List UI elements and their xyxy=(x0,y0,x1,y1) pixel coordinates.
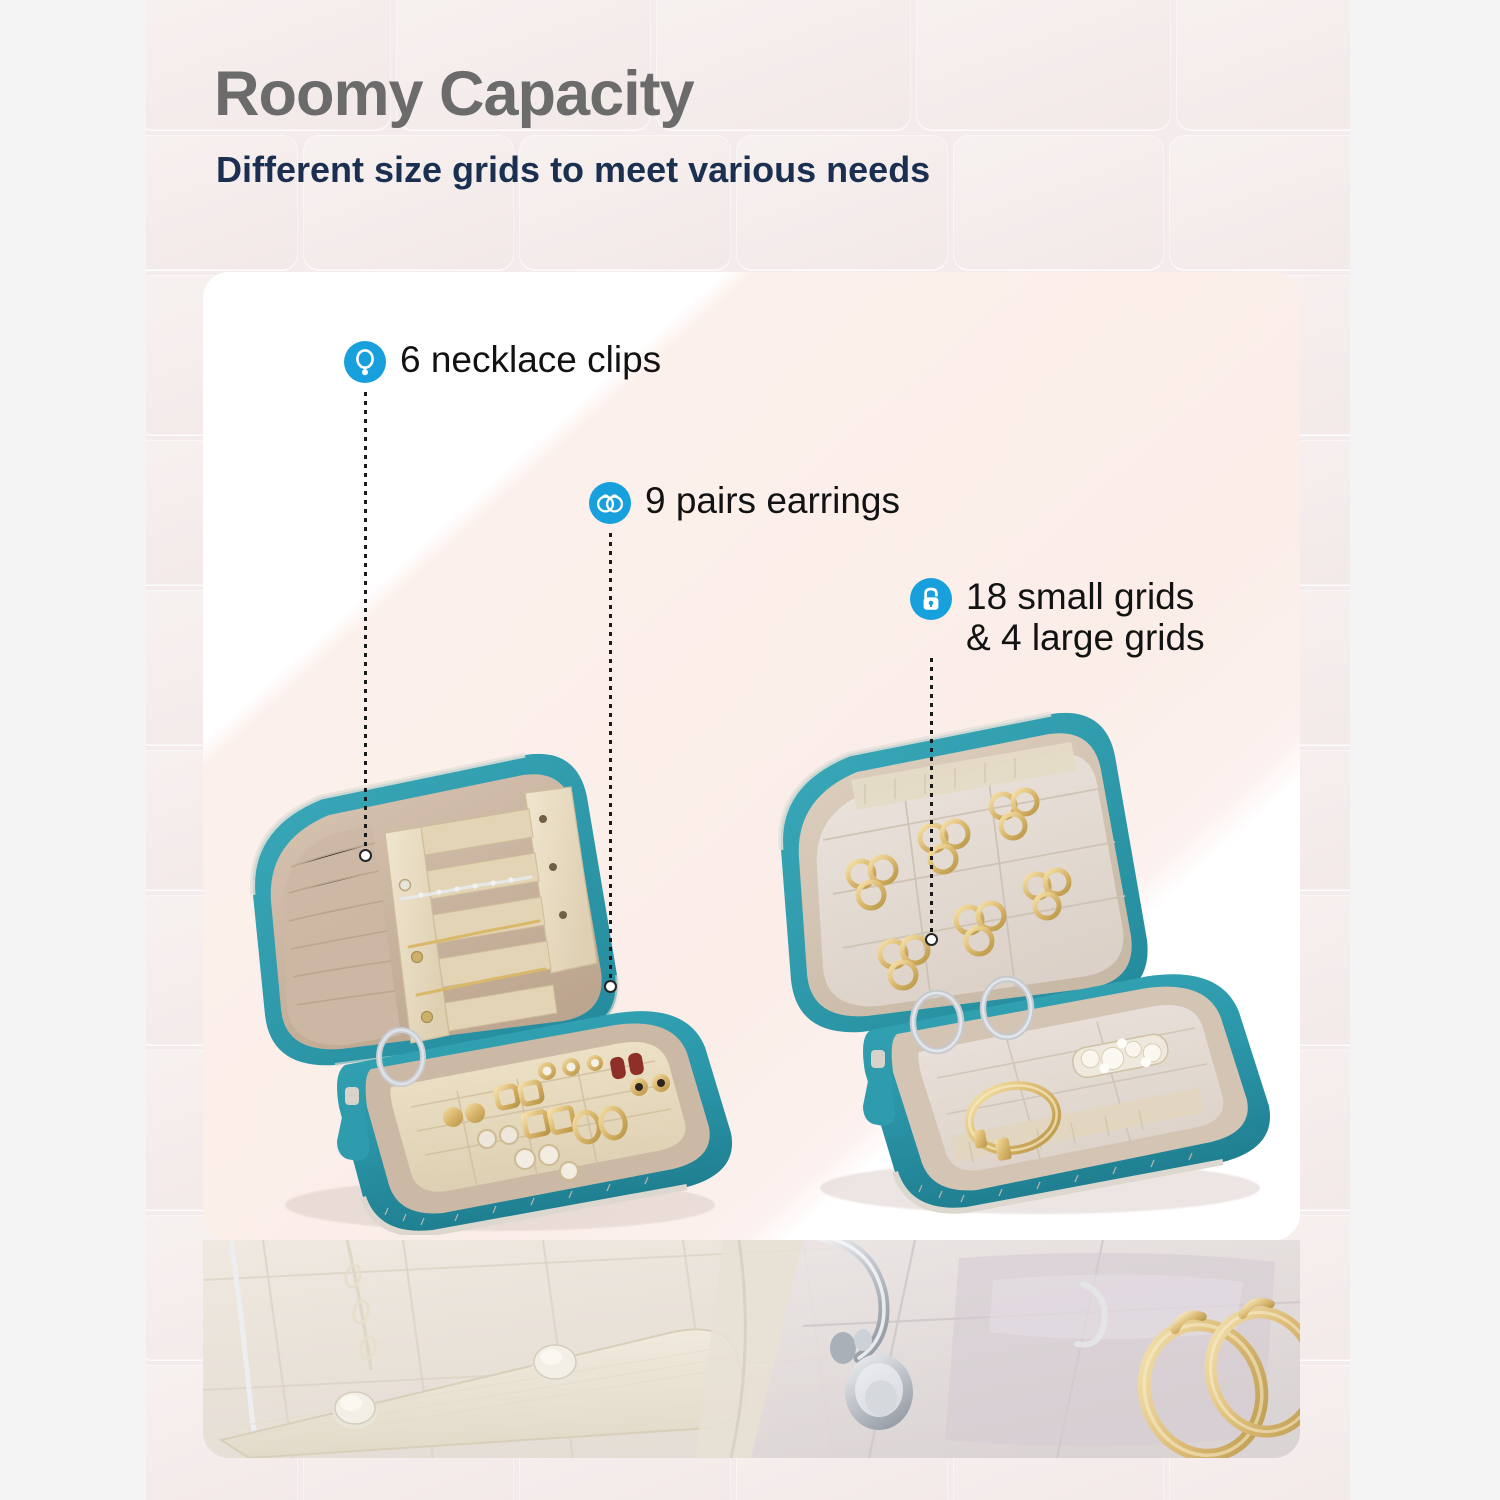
left-case-illustration xyxy=(225,735,745,1235)
page-subtitle: Different size grids to meet various nee… xyxy=(216,152,930,188)
earring-pair-icon xyxy=(589,482,631,524)
background-tile xyxy=(1176,0,1350,130)
leader-endpoint-grids xyxy=(925,933,938,946)
page-title: Roomy Capacity xyxy=(214,63,694,126)
leader-endpoint-necklace-clips xyxy=(359,849,372,862)
callout-earrings: 9 pairs earrings xyxy=(589,482,900,524)
leader-endpoint-earrings xyxy=(604,980,617,993)
leader-line-grids xyxy=(930,658,933,938)
background-tile xyxy=(916,0,1171,130)
leader-line-earrings xyxy=(609,533,612,985)
callout-earrings-label: 9 pairs earrings xyxy=(645,480,900,521)
right-case-illustration xyxy=(755,700,1300,1220)
left-product-photo xyxy=(225,735,745,1235)
bottom-closeup-photo xyxy=(203,1240,1300,1458)
callout-grids: 18 small grids & 4 large grids xyxy=(910,578,1205,659)
background-tile xyxy=(1169,135,1350,270)
closeup-illustration xyxy=(203,1240,1300,1458)
background-tile xyxy=(953,135,1165,270)
lock-icon xyxy=(910,578,952,620)
callout-necklace-clips: 6 necklace clips xyxy=(344,341,661,383)
necklace-pendant-icon xyxy=(344,341,386,383)
callout-necklace-label: 6 necklace clips xyxy=(400,339,661,380)
leader-line-necklace-clips xyxy=(364,392,367,854)
background-tile xyxy=(656,0,911,130)
right-product-photo xyxy=(755,700,1300,1220)
infographic-page: Roomy Capacity Different size grids to m… xyxy=(0,0,1500,1500)
callout-grids-label: 18 small grids & 4 large grids xyxy=(966,576,1205,659)
